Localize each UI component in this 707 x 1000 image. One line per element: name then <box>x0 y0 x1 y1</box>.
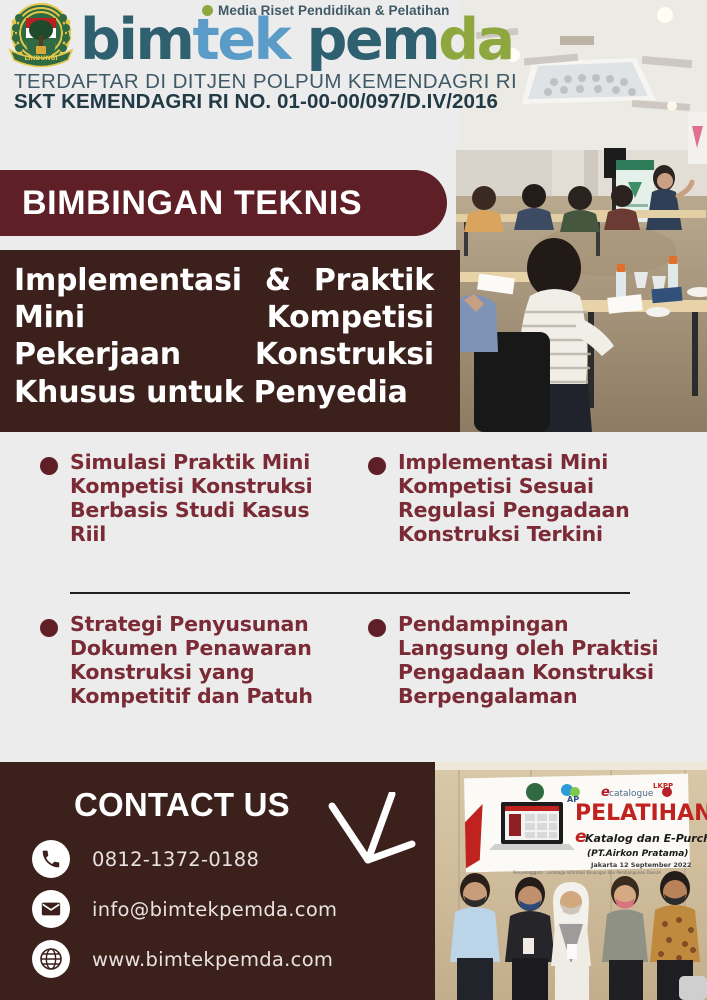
svg-text:(PT.Airkon Pratama): (PT.Airkon Pratama) <box>587 849 688 859</box>
svg-text:Jakarta 12 September 2022: Jakarta 12 September 2022 <box>590 861 691 869</box>
flyer-root: LINDUNGI Media Riset Pendidikan & Pelati… <box>0 0 707 1000</box>
bullet-text: Simulasi Praktik Mini Kompetisi Konstruk… <box>70 450 350 546</box>
bullet-dot-icon <box>368 619 386 637</box>
wordmark-part-4: da <box>438 7 512 73</box>
wordmark-text: bimtek pemda <box>80 12 513 69</box>
banner-label: BIMBINGAN TEKNIS <box>22 184 362 223</box>
phone-number: 0812-1372-0188 <box>92 848 259 871</box>
page-title: Implementasi & Praktik Mini Kompetisi Pe… <box>14 262 434 411</box>
bullet-text: Implementasi Mini Kompetisi Sesuai Regul… <box>398 450 668 546</box>
contact-row-email[interactable]: info@bimtekpemda.com <box>32 890 337 928</box>
svg-text:Penyelenggara : Lembaga Inform: Penyelenggara : Lembaga Informasi Keuang… <box>513 870 662 875</box>
wordmark-part-1: bim <box>80 7 193 73</box>
group-training-photo: AP e catalogue LKPP PELATIHAN <box>435 762 707 1000</box>
globe-icon <box>32 940 70 978</box>
hand-drawn-down-arrow-icon <box>316 792 426 874</box>
envelope-icon <box>32 890 70 928</box>
bullet-dot-icon <box>368 457 386 475</box>
bimtek-pemda-emblem-icon: LINDUNGI <box>4 2 78 72</box>
list-item: Implementasi Mini Kompetisi Sesuai Regul… <box>368 450 668 546</box>
list-item: Pendampingan Langsung oleh Praktisi Peng… <box>368 612 668 708</box>
svg-text:LINDUNGI: LINDUNGI <box>24 55 57 62</box>
email-address: info@bimtekpemda.com <box>92 898 337 921</box>
svg-text:Katalog dan E-Purchasing: Katalog dan E-Purchasing <box>585 832 707 845</box>
wordmark-part-3: pem <box>307 7 439 73</box>
list-item: Strategi Penyusunan Dokumen Penawaran Ko… <box>40 612 350 708</box>
bullet-text: Strategi Penyusunan Dokumen Penawaran Ko… <box>70 612 350 708</box>
website-url: www.bimtekpemda.com <box>92 948 333 971</box>
contact-row-phone[interactable]: 0812-1372-0188 <box>32 840 259 878</box>
contact-heading: CONTACT US <box>74 786 290 824</box>
svg-text:catalogue: catalogue <box>609 789 654 799</box>
section-divider <box>70 592 630 594</box>
phone-icon <box>32 840 70 878</box>
contact-row-website[interactable]: www.bimtekpemda.com <box>32 940 333 978</box>
title-block: Implementasi & Praktik Mini Kompetisi Pe… <box>0 250 460 432</box>
bullet-dot-icon <box>40 619 58 637</box>
banner-title: PELATIHAN <box>575 801 707 826</box>
brand-header: LINDUNGI Media Riset Pendidikan & Pelati… <box>0 0 460 148</box>
registration-line-2: SKT KEMENDAGRI RI NO. 01-00-00/097/D.IV/… <box>14 90 498 114</box>
bullet-text: Pendampingan Langsung oleh Praktisi Peng… <box>398 612 668 708</box>
bullet-section: Simulasi Praktik Mini Kompetisi Konstruk… <box>0 432 707 762</box>
bimbingan-teknis-banner: BIMBINGAN TEKNIS <box>0 170 447 236</box>
bullet-dot-icon <box>40 457 58 475</box>
list-item: Simulasi Praktik Mini Kompetisi Konstruk… <box>40 450 350 546</box>
wordmark-part-2: tek <box>193 7 290 73</box>
